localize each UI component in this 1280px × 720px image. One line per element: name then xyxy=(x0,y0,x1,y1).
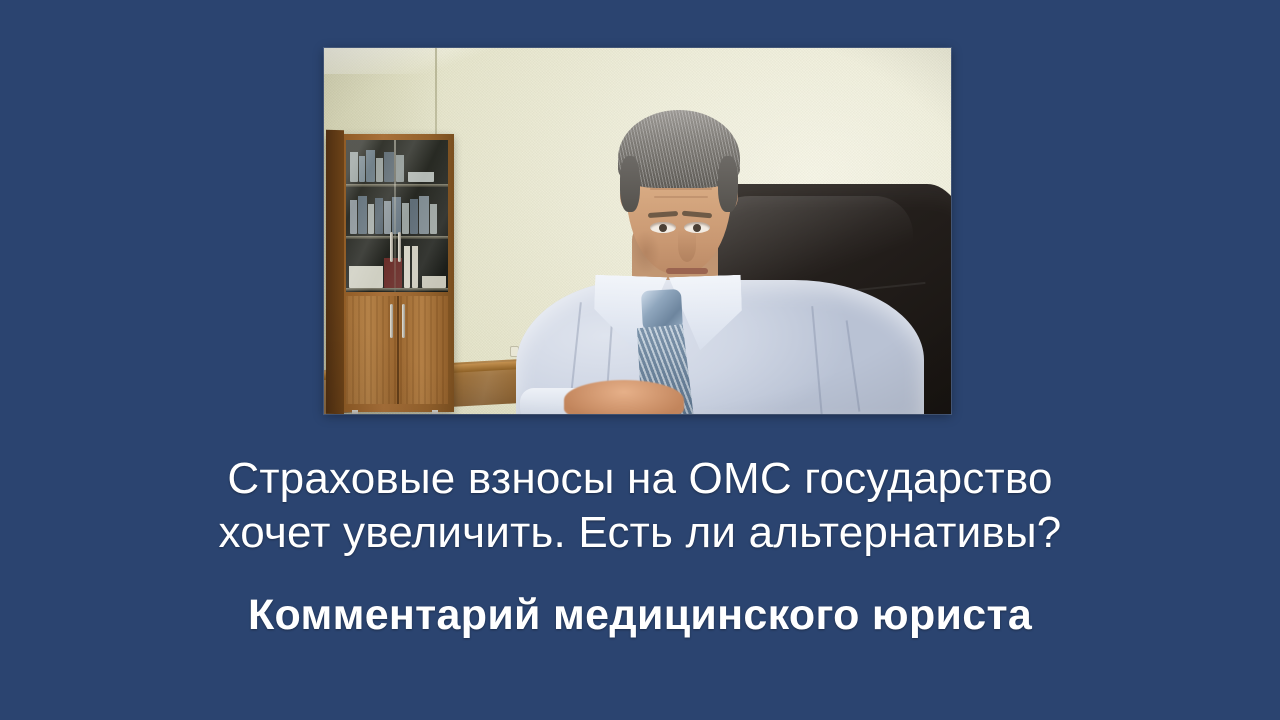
eyebrow-right xyxy=(682,211,712,219)
eyebrow-left xyxy=(648,211,678,218)
bookcase-foot xyxy=(352,410,358,414)
bookcase-foot xyxy=(432,410,438,414)
glass-door-handle xyxy=(390,232,393,262)
hair-temple-right xyxy=(718,156,738,212)
cheek-shadow xyxy=(632,230,660,274)
wooden-bookcase xyxy=(326,134,454,412)
glass-door-handle xyxy=(398,232,401,262)
hand xyxy=(564,380,684,414)
shirt-fold xyxy=(811,306,823,414)
cabinet-door-handle xyxy=(390,304,393,338)
hair-temple-left xyxy=(620,156,640,212)
cabinet-door-handle xyxy=(402,304,405,338)
glass-reflection xyxy=(346,140,448,292)
forehead-line xyxy=(654,196,708,198)
mouth xyxy=(666,268,708,274)
video-thumbnail-photo xyxy=(324,48,951,414)
head xyxy=(618,110,740,274)
bookcase-glass-cabinet xyxy=(346,140,448,292)
forehead-line xyxy=(650,188,712,190)
shirt-fold xyxy=(846,320,861,411)
nose xyxy=(678,230,696,262)
bookcase-side-panel xyxy=(326,130,344,414)
person-portrait xyxy=(520,84,920,414)
pupil xyxy=(659,224,667,232)
caption-block: Страховые взносы на ОМС государство хоче… xyxy=(0,452,1280,642)
caption-line-1: Страховые взносы на ОМС государство xyxy=(0,452,1280,506)
door-split-line xyxy=(397,296,399,404)
caption-line-3: Комментарий медицинского юриста xyxy=(0,588,1280,642)
bookcase-lower-doors xyxy=(346,296,448,404)
eye-left xyxy=(650,222,676,233)
caption-line-2: хочет увеличить. Есть ли альтернативы? xyxy=(0,506,1280,560)
